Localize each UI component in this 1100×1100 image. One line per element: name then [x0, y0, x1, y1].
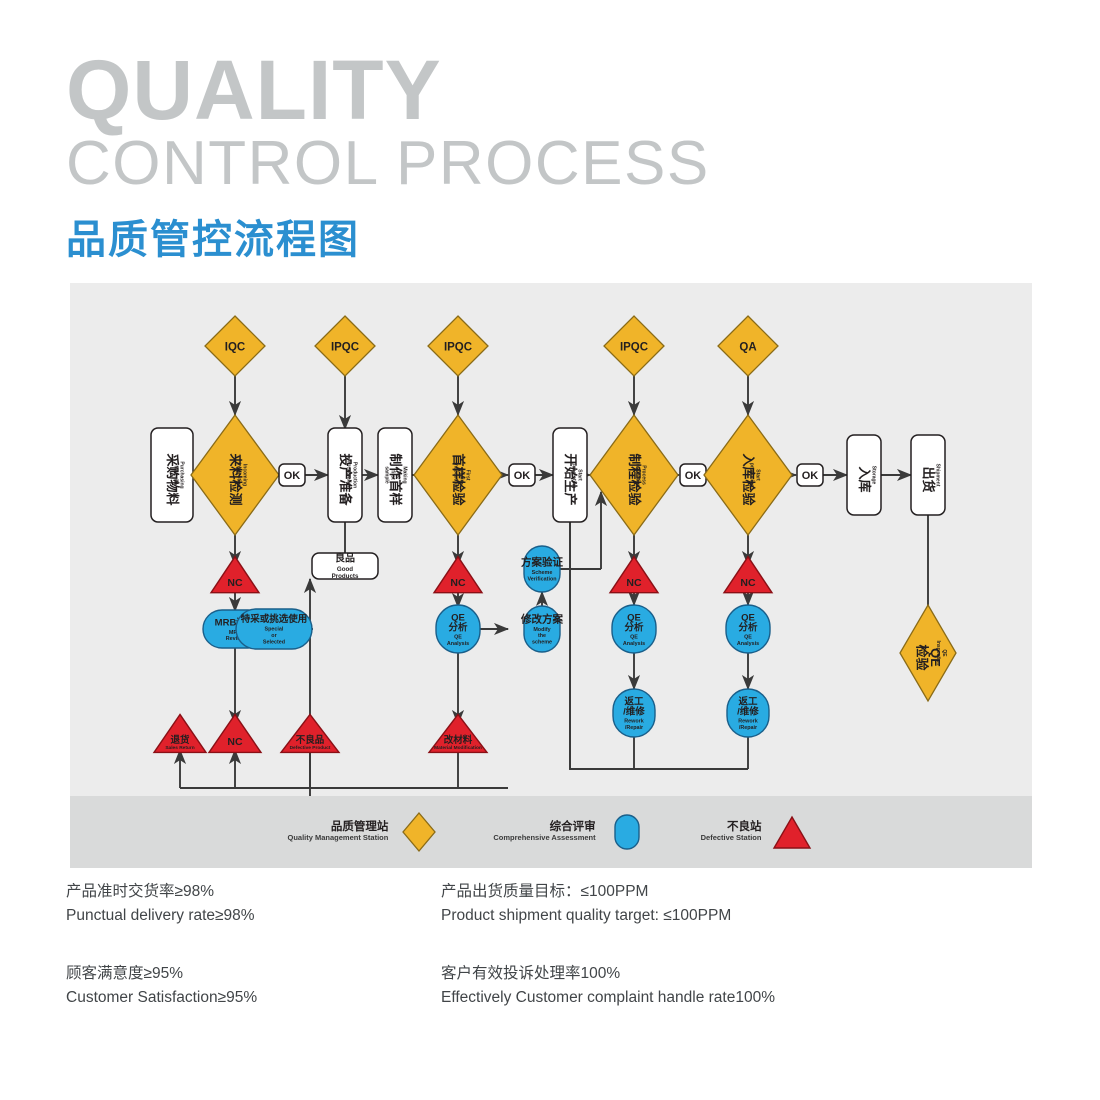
label-cn: IPQC — [444, 341, 472, 353]
label-en: the — [538, 633, 546, 639]
pill-shape — [524, 546, 560, 592]
metric-cn: 顾客满意度≥95% — [66, 962, 441, 986]
metric-item: 客户有效投诉处理率100% Effectively Customer compl… — [441, 962, 816, 1010]
label-en: producing — [748, 463, 754, 487]
label-en: QE — [630, 635, 638, 641]
label-cn: IPQC — [620, 341, 648, 353]
node-purchasing[interactable]: 采购物料PurchasingMaterial — [151, 428, 193, 522]
title-control-process: CONTROL PROCESS — [66, 129, 710, 195]
node-nc-2[interactable]: NC — [209, 714, 261, 752]
label-cn: NC — [626, 577, 642, 589]
label-cn: /维修 — [737, 705, 759, 717]
label-cn: 分析 — [448, 621, 468, 633]
label-en: Good — [337, 566, 353, 573]
node-ipqc2[interactable]: IPQC — [428, 316, 488, 376]
label-en: Selected — [263, 639, 285, 645]
node-defective[interactable]: 不良品Defective Product — [281, 714, 339, 752]
label-en: Inspection — [452, 462, 458, 487]
metric-item: 顾客满意度≥95% Customer Satisfaction≥95% — [66, 962, 441, 1010]
legend-pill-icon — [605, 810, 649, 854]
label-en: /Repair — [739, 725, 758, 731]
legend-item-comprehensive: 综合评审Comprehensive Assessment — [493, 810, 648, 854]
label-en: Analysis — [623, 641, 645, 647]
node-nc-5[interactable]: NC — [724, 557, 772, 593]
label-en: QE — [454, 635, 462, 641]
node-ok4[interactable]: OK — [797, 464, 823, 486]
label-en: Special — [265, 627, 284, 633]
node-sales-return[interactable]: 退货Sales Return — [154, 714, 206, 752]
metric-en: Customer Satisfaction≥95% — [66, 986, 441, 1010]
label-en: Shipment — [934, 464, 940, 487]
node-rework-1[interactable]: 返工/维修Rework/Repair — [613, 689, 655, 737]
label-cn: 出货 — [921, 466, 936, 492]
label-cn: 检验 — [914, 644, 929, 671]
legend-en: Quality Management Station — [288, 834, 389, 842]
legend-en: Comprehensive Assessment — [493, 834, 595, 842]
node-special-select[interactable]: 特采或挑选使用SpecialorSelected — [236, 609, 312, 649]
label-cn: 改材料 — [444, 734, 473, 746]
label-en: /Repair — [625, 725, 644, 731]
node-shipment[interactable]: 出货Shipment — [911, 435, 945, 515]
node-label: 返工/维修Rework/Repair — [737, 695, 759, 731]
metric-item: 产品出货质量目标：≤100PPM Product shipment qualit… — [441, 880, 816, 928]
node-oqc[interactable]: QE检验QEInspection — [900, 605, 956, 701]
label-cn: 良品 — [335, 552, 355, 565]
label-cn: NC — [227, 736, 243, 748]
label-cn: 特采或挑选使用 — [241, 613, 308, 625]
node-ipqc3[interactable]: IPQC — [604, 316, 664, 376]
label-cn: QA — [739, 341, 756, 353]
legend-triangle-icon — [770, 810, 814, 854]
node-qe-analysis-3[interactable]: QE分析QEAnalysis — [726, 605, 770, 653]
label-cn: OK — [685, 470, 702, 482]
node-modify-scheme[interactable]: 修改方案Modifythescheme — [520, 606, 563, 652]
label-en: Material — [172, 466, 178, 486]
node-label: 返工/维修Rework/Repair — [623, 695, 645, 731]
label-en: QE — [744, 635, 752, 641]
label-en: Sales Return — [165, 745, 194, 751]
node-start-gen[interactable]: 开始生产StartGenerating — [553, 428, 587, 522]
label-en: Defective Product — [290, 745, 331, 751]
label-cn: NC — [227, 577, 243, 589]
metric-en: Effectively Customer complaint handle ra… — [441, 986, 816, 1010]
metric-cn: 产品准时交货率≥98% — [66, 880, 441, 904]
legend-label: 不良站Defective Station — [701, 821, 762, 842]
label-en: Rework — [624, 719, 643, 725]
title-chinese: 品质管控流程图 — [66, 195, 710, 265]
page-title: QUALITY CONTROL PROCESS 品质管控流程图 — [66, 52, 710, 265]
label-cn: 修改方案 — [520, 612, 563, 625]
node-nc-4[interactable]: NC — [610, 557, 658, 593]
label-cn: 退货 — [170, 734, 190, 746]
node-ipqc1[interactable]: IPQC — [315, 316, 375, 376]
label-cn: IPQC — [331, 341, 359, 353]
node-storage[interactable]: 入库Storage — [847, 435, 881, 515]
label-cn: NC — [450, 577, 466, 589]
node-incoming[interactable]: 来料检测IncomingInspection — [191, 415, 279, 535]
node-ok2[interactable]: OK — [509, 464, 535, 486]
label-en: sample — [384, 466, 390, 483]
legend-band: 品质管理站Quality Management Station综合评审Compr… — [70, 796, 1032, 868]
label-en: Preparation — [345, 461, 351, 489]
legend-item-quality-mgmt: 品质管理站Quality Management Station — [288, 810, 442, 854]
label-en: Rework — [738, 719, 757, 725]
label-en: Generating — [570, 462, 576, 488]
node-ok3[interactable]: OK — [680, 464, 706, 486]
label-en: scheme — [532, 640, 552, 646]
node-prod-prep[interactable]: 投产准备ProductionPreparation — [328, 428, 362, 522]
label-cn: IQC — [225, 341, 245, 353]
label-en: Analysis — [447, 641, 469, 647]
metric-cn: 产品出货质量目标：≤100PPM — [441, 880, 816, 904]
node-nc-3[interactable]: NC — [434, 557, 482, 593]
node-warehouse-in[interactable]: 入库检验Startproducing — [704, 415, 792, 535]
node-process-insp[interactable]: 制程检验ProcessInspection — [590, 415, 678, 535]
legend-label: 品质管理站Quality Management Station — [288, 821, 389, 842]
legend-item-defective: 不良站Defective Station — [701, 810, 815, 854]
label-cn: NC — [740, 577, 756, 589]
flow-nodes: IQCIPQCIPQCIPQCQA采购物料PurchasingMaterial来… — [151, 316, 956, 752]
node-qe-analysis-1[interactable]: QE分析QEAnalysis — [436, 605, 480, 653]
metric-en: Punctual delivery rate≥98% — [66, 904, 441, 928]
node-first-art[interactable]: 首样检验FirstarticleInspection — [414, 415, 502, 535]
label-en: Inspection — [634, 462, 640, 487]
label-en: Analysis — [737, 641, 759, 647]
label-en: Inspection — [235, 462, 241, 487]
label-en: Storage — [870, 466, 876, 485]
legend-diamond-icon — [397, 810, 441, 854]
node-ok1[interactable]: OK — [279, 464, 305, 486]
label-en: Products — [332, 573, 359, 580]
label-cn: /维修 — [623, 705, 645, 717]
label-cn: 分析 — [624, 621, 644, 633]
legend-en: Defective Station — [701, 834, 762, 842]
label-cn: 入库 — [857, 466, 872, 492]
label-cn: OK — [284, 470, 301, 482]
metric-en: Product shipment quality target: ≤100PPM — [441, 904, 816, 928]
node-first-sample[interactable]: 制作首样Makingthefirstsample — [378, 428, 412, 522]
label-en: Scheme — [532, 570, 553, 576]
metric-cn: 客户有效投诉处理率100% — [441, 962, 816, 986]
node-rework-2[interactable]: 返工/维修Rework/Repair — [727, 689, 769, 737]
node-scheme-verify[interactable]: 方案验证SchemeVerification — [521, 546, 563, 592]
flowchart-panel: IQCIPQCIPQCIPQCQA采购物料PurchasingMaterial来… — [70, 283, 1032, 868]
label-cn: 不良品 — [296, 734, 325, 746]
label-en: Verification — [527, 576, 556, 582]
node-material-mod[interactable]: 改材料Material Modification — [429, 714, 487, 752]
label-cn: OK — [802, 470, 819, 482]
node-iqc[interactable]: IQC — [205, 316, 265, 376]
metric-item: 产品准时交货率≥98% Punctual delivery rate≥98% — [66, 880, 441, 928]
label-en: Material Modification — [434, 745, 482, 751]
label-cn: 方案验证 — [521, 556, 563, 569]
label-cn: OK — [514, 470, 531, 482]
flowchart-canvas: IQCIPQCIPQCIPQCQA采购物料PurchasingMaterial来… — [70, 283, 1032, 796]
label-cn: 分析 — [738, 621, 758, 633]
node-qe-analysis-2[interactable]: QE分析QEAnalysis — [612, 605, 656, 653]
node-nc-1[interactable]: NC — [211, 557, 259, 593]
label-en: Modify — [533, 627, 550, 633]
footer-metrics: 产品准时交货率≥98% Punctual delivery rate≥98% 产… — [66, 880, 1026, 1044]
label-en: Inspection — [935, 640, 941, 665]
legend-label: 综合评审Comprehensive Assessment — [493, 821, 595, 842]
node-good-products[interactable]: 良品GoodProducts — [312, 552, 378, 581]
node-qa[interactable]: QA — [718, 316, 778, 376]
title-quality: QUALITY — [66, 52, 710, 129]
label-en: or — [271, 633, 277, 639]
